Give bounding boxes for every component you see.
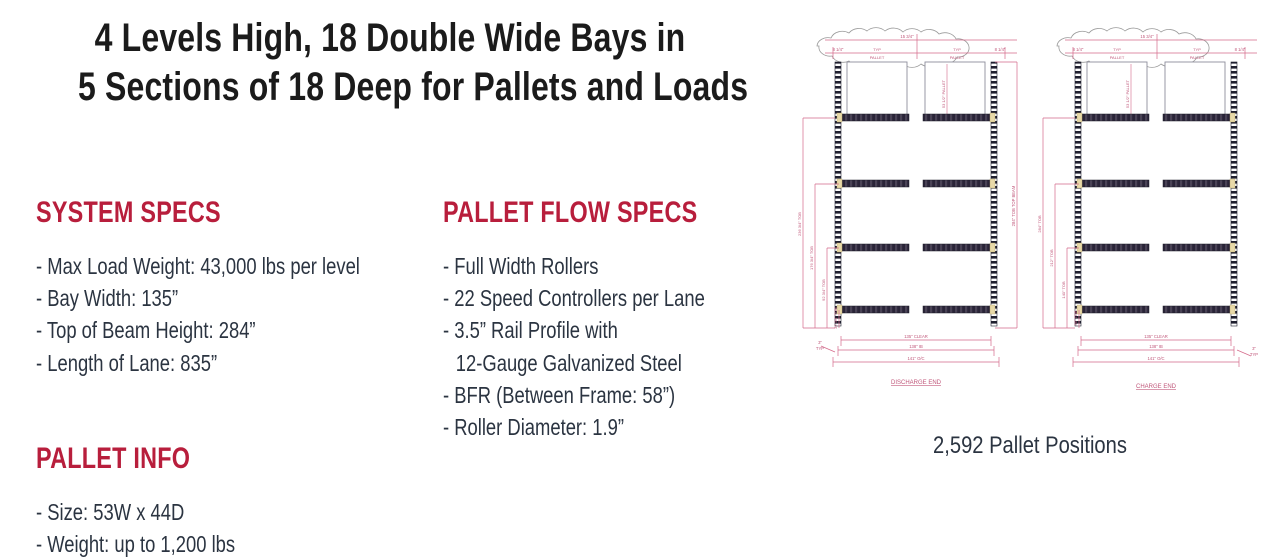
svg-text:TYP: TYP xyxy=(953,47,961,52)
pallet-outline xyxy=(925,62,985,116)
pallet-outline xyxy=(847,62,907,116)
bottom-dimension-text: 135" CLEAR 138" IB 141" O/C 3" TYP xyxy=(1144,334,1258,361)
system-specs-heading: SYSTEM SPECS xyxy=(36,196,352,230)
pallet-positions-caption: 2,592 Pallet Positions xyxy=(833,432,1228,460)
pallet-height-text: 53 1/2" PALLET xyxy=(941,79,946,108)
bottom-dimension-lines xyxy=(1073,336,1251,367)
beam xyxy=(1163,244,1231,251)
svg-text:PALLET: PALLET xyxy=(950,55,965,60)
list-item: - Roller Diameter: 1.9” xyxy=(443,411,705,443)
list-item: - Length of Lane: 835” xyxy=(36,347,360,379)
svg-text:8 1/4": 8 1/4" xyxy=(995,47,1006,52)
beam xyxy=(923,114,991,121)
bottom-dimension-lines xyxy=(821,336,999,367)
list-item: - Size: 53W x 44D xyxy=(36,496,235,528)
beam xyxy=(923,306,991,313)
pallet-outline xyxy=(1165,62,1225,116)
list-item: - 22 Speed Controllers per Lane xyxy=(443,282,705,314)
list-item: - Weight: up to 1,200 lbs xyxy=(36,528,235,560)
bottom-dimension-text: 135" CLEAR 138" IB 141" O/C 3" TYP xyxy=(816,334,928,361)
beam xyxy=(841,306,909,313)
top-dimension-lines xyxy=(825,34,1017,59)
beam-levels xyxy=(841,114,991,313)
pallet-flow-specs-heading: PALLET FLOW SPECS xyxy=(443,196,698,230)
rack-elevation-drawing: 15 3/4" 8 1/4" 8 1/4" TYP TYP PALLET PAL… xyxy=(795,6,1265,426)
svg-text:135" CLEAR: 135" CLEAR xyxy=(1144,334,1168,339)
svg-text:36" TOB: 36" TOB xyxy=(1073,310,1078,325)
page-title-line-1: 4 Levels High, 18 Double Wide Bays in xyxy=(78,14,702,63)
svg-text:TYP: TYP xyxy=(1113,47,1121,52)
pallet-info-list: - Size: 53W x 44D - Weight: up to 1,200 … xyxy=(36,496,285,560)
beam xyxy=(1163,180,1231,187)
svg-text:138" IB: 138" IB xyxy=(1149,344,1163,349)
beam xyxy=(841,244,909,251)
svg-text:PALLET: PALLET xyxy=(1110,55,1125,60)
beam xyxy=(1163,114,1231,121)
beam xyxy=(1081,306,1149,313)
svg-text:TYP: TYP xyxy=(1250,352,1258,357)
svg-text:138" IB: 138" IB xyxy=(909,344,923,349)
svg-text:32 3/4" TOB: 32 3/4" TOB xyxy=(833,307,838,329)
svg-text:92 3/4" TOB: 92 3/4" TOB xyxy=(821,279,826,301)
beam xyxy=(841,180,909,187)
svg-text:284" TOB: 284" TOB xyxy=(1037,215,1042,233)
svg-text:8 1/4": 8 1/4" xyxy=(1235,47,1246,52)
pallet-outline xyxy=(1087,62,1147,116)
poster-root: 4 Levels High, 18 Double Wide Bays in 5 … xyxy=(0,0,1270,557)
svg-text:15 3/4": 15 3/4" xyxy=(1140,34,1154,39)
svg-text:PALLET: PALLET xyxy=(1190,55,1205,60)
svg-text:15 3/4": 15 3/4" xyxy=(900,34,914,39)
svg-text:8 1/4": 8 1/4" xyxy=(833,47,844,52)
top-dimension-lines xyxy=(1065,34,1257,59)
left-elevation: 15 3/4" 8 1/4" 8 1/4" TYP TYP PALLET PAL… xyxy=(797,28,1017,386)
pallet-height-text: 53 1/2" PALLET xyxy=(1125,79,1130,108)
page-title-line-2: 5 Sections of 18 Deep for Pallets and Lo… xyxy=(78,63,702,112)
system-specs-list: - Max Load Weight: 43,000 lbs per level … xyxy=(36,250,441,379)
svg-text:135" CLEAR: 135" CLEAR xyxy=(904,334,928,339)
upright-frame-right xyxy=(1231,62,1237,326)
beam-connectors xyxy=(837,113,995,314)
top-dimension-text: 15 3/4" 8 1/4" 8 1/4" xyxy=(1073,34,1246,52)
pallet-info-heading: PALLET INFO xyxy=(36,442,230,476)
svg-text:TYP: TYP xyxy=(816,346,824,351)
svg-text:TYP: TYP xyxy=(873,47,881,52)
right-elevation: 15 3/4" 8 1/4" 8 1/4" TYP TYP PALLET PAL… xyxy=(1037,28,1258,390)
svg-text:236 3/4" TOB: 236 3/4" TOB xyxy=(797,212,802,236)
list-item: 12-Gauge Galvanized Steel xyxy=(443,347,705,379)
beam xyxy=(923,180,991,187)
list-item: - Max Load Weight: 43,000 lbs per level xyxy=(36,250,360,282)
beam xyxy=(1081,114,1149,121)
pallet-flow-specs-list: - Full Width Rollers - 22 Speed Controll… xyxy=(443,250,770,443)
beam xyxy=(1081,180,1149,187)
overall-height-text: 284" TOB TOP BEAM xyxy=(1011,185,1016,226)
top-dimension-text: 15 3/4" 8 1/4" 8 1/4" xyxy=(833,34,1006,52)
svg-text:140" TOB: 140" TOB xyxy=(1061,281,1066,299)
system-specs-section: SYSTEM SPECS - Max Load Weight: 43,000 l… xyxy=(36,196,441,379)
list-item: - Top of Beam Height: 284” xyxy=(36,314,360,346)
upright-frame-left xyxy=(1075,62,1081,326)
svg-text:PALLET: PALLET xyxy=(870,55,885,60)
rack-elevation-svg: 15 3/4" 8 1/4" 8 1/4" TYP TYP PALLET PAL… xyxy=(795,6,1265,426)
svg-text:141" O/C: 141" O/C xyxy=(907,356,924,361)
svg-text:212" TOB: 212" TOB xyxy=(1049,249,1054,267)
svg-text:3": 3" xyxy=(1252,346,1256,351)
svg-text:141" O/C: 141" O/C xyxy=(1147,356,1164,361)
beam xyxy=(1081,244,1149,251)
list-item: - Bay Width: 135” xyxy=(36,282,360,314)
list-item: - BFR (Between Frame: 58”) xyxy=(443,379,705,411)
list-item: - 3.5” Rail Profile with xyxy=(443,314,705,346)
upright-frame-left xyxy=(835,62,841,326)
list-item: - Full Width Rollers xyxy=(443,250,705,282)
left-elevation-end-label: DISCHARGE END xyxy=(891,380,942,386)
pallet-flow-specs-section: PALLET FLOW SPECS - Full Width Rollers -… xyxy=(443,196,770,443)
svg-text:176 3/4" TOB: 176 3/4" TOB xyxy=(809,246,814,270)
beam xyxy=(923,244,991,251)
beam xyxy=(841,114,909,121)
right-elevation-end-label: CHARGE END xyxy=(1136,384,1177,390)
pallet-info-section: PALLET INFO - Size: 53W x 44D - Weight: … xyxy=(36,442,285,560)
beam-levels xyxy=(1081,114,1231,313)
svg-text:8 1/4": 8 1/4" xyxy=(1073,47,1084,52)
beam-connectors xyxy=(1077,113,1235,314)
beam xyxy=(1163,306,1231,313)
upright-frame-right xyxy=(991,62,997,326)
svg-text:3": 3" xyxy=(818,340,822,345)
svg-text:TYP: TYP xyxy=(1193,47,1201,52)
page-title: 4 Levels High, 18 Double Wide Bays in 5 … xyxy=(78,14,702,112)
